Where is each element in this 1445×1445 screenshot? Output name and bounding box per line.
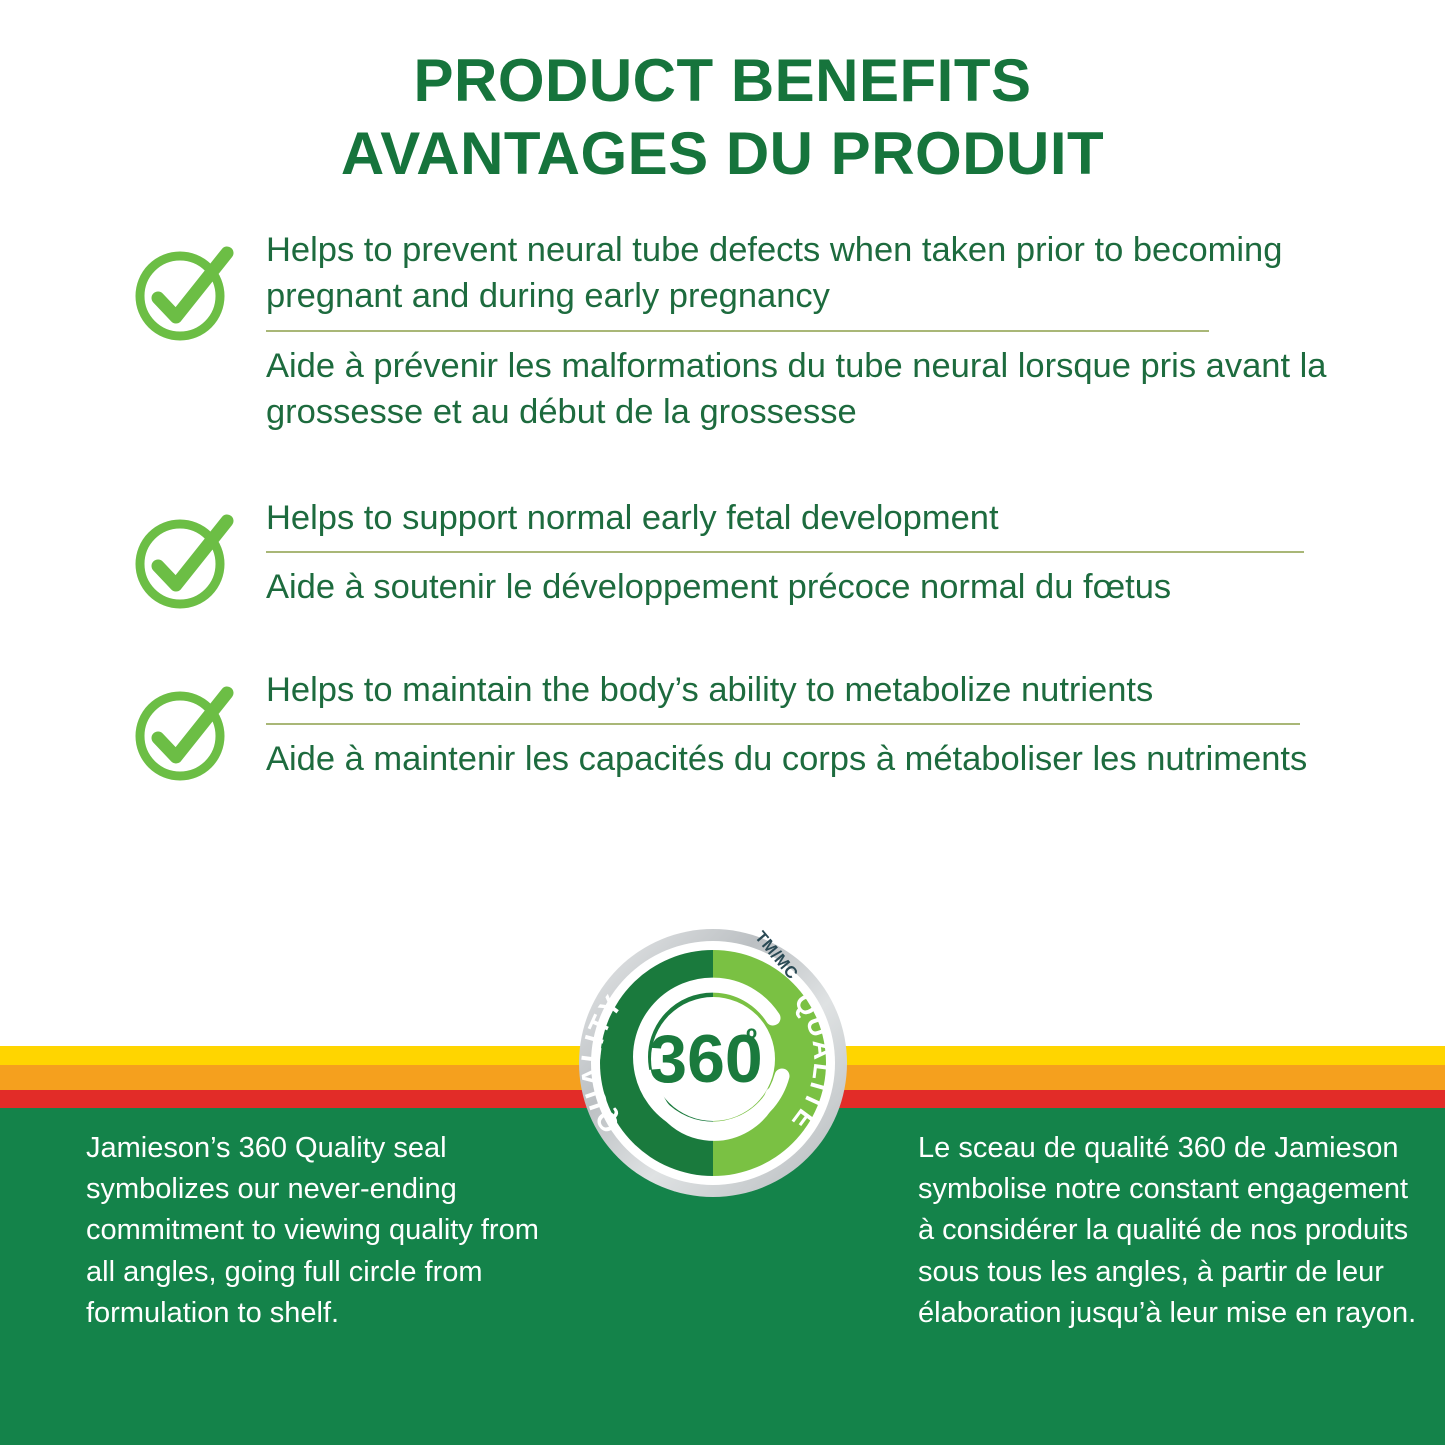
check-circle-icon [132, 242, 234, 344]
benefits-list: Helps to prevent neural tube defects whe… [0, 228, 1445, 784]
benefit-item: Helps to support normal early fetal deve… [0, 496, 1445, 612]
check-circle-icon [132, 510, 234, 612]
benefit-text-en: Helps to support normal early fetal deve… [266, 496, 1385, 552]
footer-text-en: Jamieson’s 360 Quality seal symbolizes o… [86, 1128, 556, 1334]
benefit-item: Helps to prevent neural tube defects whe… [0, 228, 1445, 436]
page-title: PRODUCT BENEFITS AVANTAGES DU PRODUIT [0, 44, 1445, 190]
page-title-en: PRODUCT BENEFITS [0, 44, 1445, 117]
benefit-text-en: Helps to prevent neural tube defects whe… [266, 228, 1385, 330]
seal-degree-symbol: º [746, 1023, 757, 1056]
benefit-text-fr: Aide à soutenir le développement précoce… [266, 553, 1385, 611]
benefit-text-en: Helps to maintain the body’s ability to … [266, 668, 1385, 724]
benefit-texts: Helps to support normal early fetal deve… [266, 496, 1385, 612]
benefit-item: Helps to maintain the body’s ability to … [0, 668, 1445, 784]
check-circle-icon [132, 682, 234, 784]
benefit-text-fr: Aide à maintenir les capacités du corps … [266, 725, 1385, 783]
benefit-texts: Helps to maintain the body’s ability to … [266, 668, 1385, 784]
benefit-texts: Helps to prevent neural tube defects whe… [266, 228, 1385, 436]
footer-text-fr: Le sceau de qualité 360 de Jamieson symb… [918, 1128, 1418, 1334]
quality-360-seal: 360 º QUALITY QUALITÉ TM/MC [576, 926, 850, 1200]
benefit-text-fr: Aide à prévenir les malformations du tub… [266, 332, 1385, 436]
product-benefits-panel: PRODUCT BENEFITS AVANTAGES DU PRODUIT He… [0, 0, 1445, 1445]
page-title-fr: AVANTAGES DU PRODUIT [0, 117, 1445, 190]
